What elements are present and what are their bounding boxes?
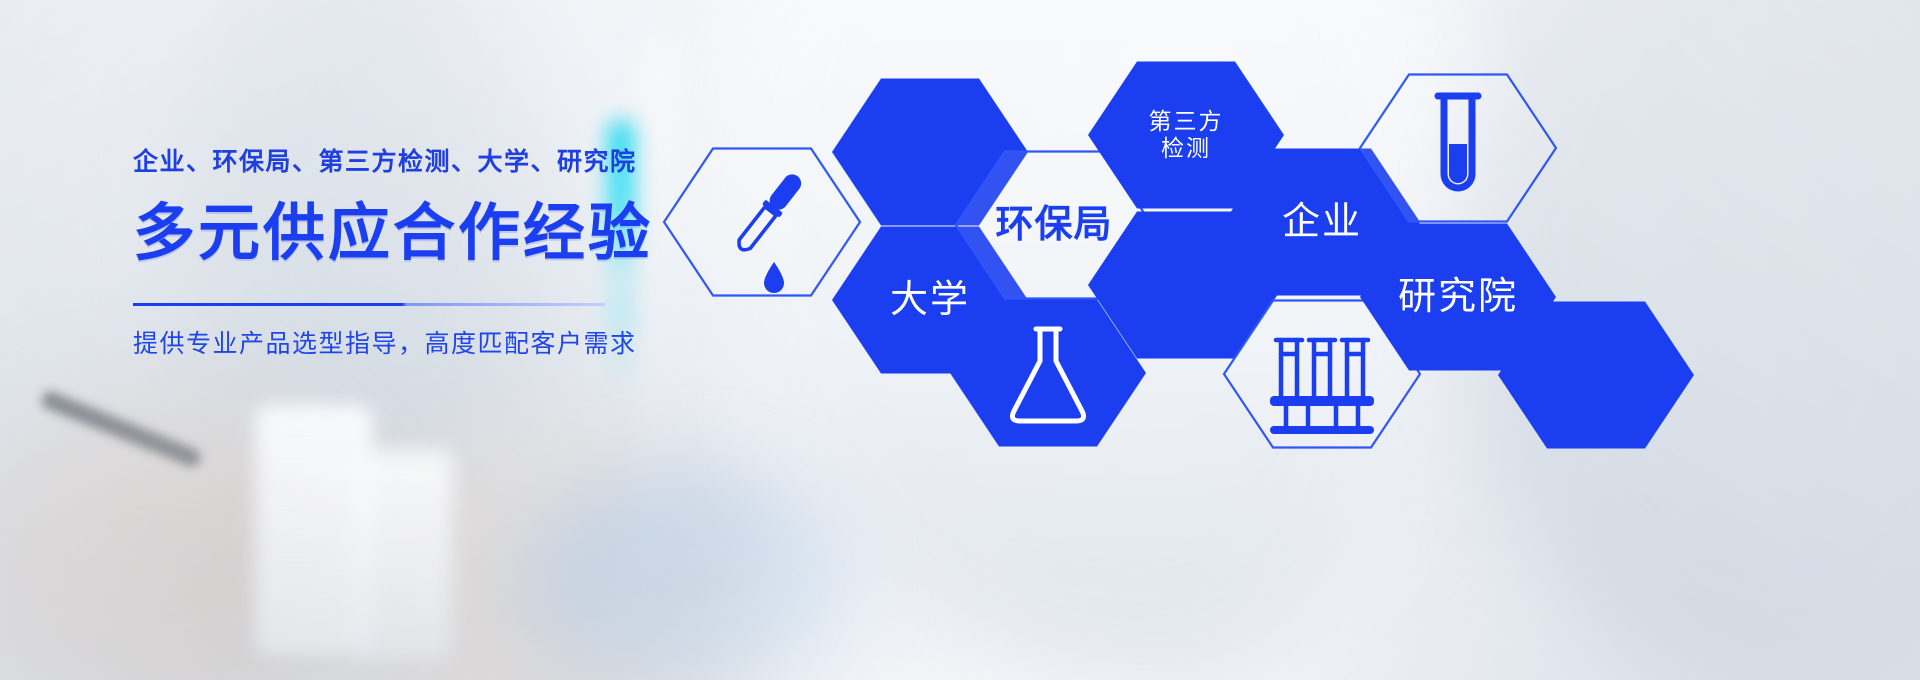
hexagon-cluster: 大学环保局第三方 检测企业研究院 — [0, 0, 1920, 680]
hexagon-cluster-svg — [0, 0, 1920, 680]
promo-banner: 企业、环保局、第三方检测、大学、研究院 多元供应合作经验 提供专业产品选型指导，… — [0, 0, 1920, 680]
hexagon-hex-pipette — [664, 149, 860, 296]
